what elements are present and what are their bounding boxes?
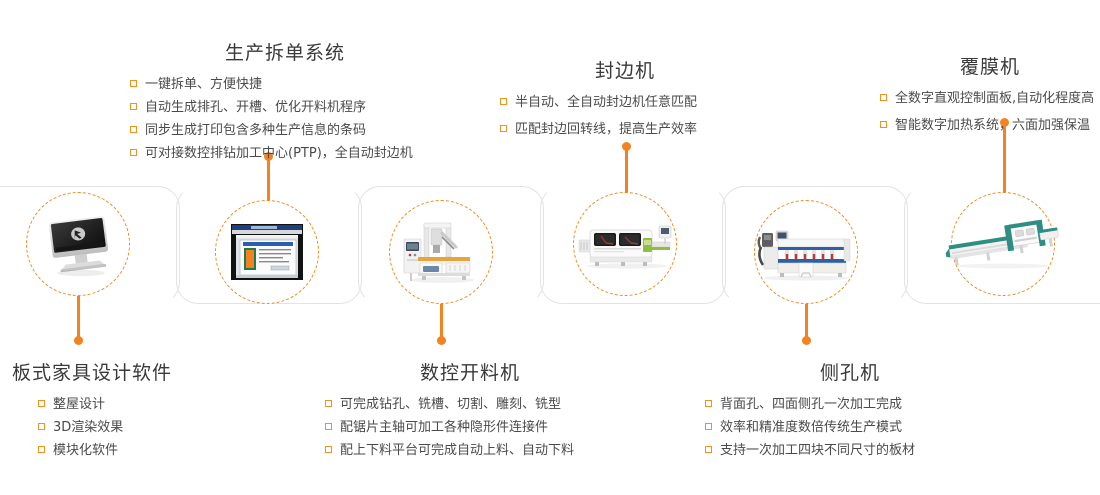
bullet-list-cnc-router: 可完成钻孔、铣槽、切割、雕刻、铣型 配锯片主轴可加工各种隐形件连接件 配上下料平… <box>325 394 615 461</box>
block-cnc-router: 数控开料机 可完成钻孔、铣槽、切割、雕刻、铣型 配锯片主轴可加工各种隐形件连接件… <box>325 358 615 463</box>
list-item: 智能数字加热系统，六面加强保温 <box>880 115 1100 136</box>
list-item: 配锯片主轴可加工各种隐形件连接件 <box>325 417 615 438</box>
bullet-text: 配上下料平台可完成自动上料、自动下料 <box>340 440 574 461</box>
bullet-text: 匹配封边回转线，提高生产效率 <box>515 119 697 140</box>
bullet-square-icon <box>130 149 137 156</box>
stem-dot-cnc-router <box>437 336 446 345</box>
node-edge-banding[interactable] <box>573 192 677 296</box>
bullet-text: 智能数字加热系统，六面加强保温 <box>895 115 1090 136</box>
bullet-text: 可完成钻孔、铣槽、切割、雕刻、铣型 <box>340 394 561 415</box>
bullet-text: 背面孔、四面侧孔一次加工完成 <box>720 394 902 415</box>
bullet-square-icon <box>880 121 887 128</box>
bullet-text: 全数字直观控制面板,自动化程度高 <box>895 88 1094 109</box>
bullet-square-icon <box>500 125 507 132</box>
bullet-text: 整屋设计 <box>53 394 105 415</box>
block-side-hole-drill: 侧孔机 背面孔、四面侧孔一次加工完成 效率和精准度数倍传统生产模式 支持一次加工… <box>705 358 995 463</box>
bullet-text: 支持一次加工四块不同尺寸的板材 <box>720 440 915 461</box>
bullet-square-icon <box>38 400 45 407</box>
list-item: 匹配封边回转线，提高生产效率 <box>500 119 750 140</box>
bullet-square-icon <box>705 423 712 430</box>
cnc-router-machine-icon <box>398 217 484 287</box>
block-order-splitting: 生产拆单系统 一键拆单、方便快捷 自动生成排孔、开槽、优化开料机程序 同步生成打… <box>130 38 440 166</box>
block-title-laminating: 覆膜机 <box>880 52 1100 79</box>
list-item: 效率和精准度数倍传统生产模式 <box>705 417 995 438</box>
stem-dot-side-hole-drill <box>802 336 811 345</box>
bullet-text: 自动生成排孔、开槽、优化开料机程序 <box>145 97 366 118</box>
block-laminating: 覆膜机 全数字直观控制面板,自动化程度高 智能数字加热系统，六面加强保温 <box>880 52 1100 138</box>
list-item: 3D渲染效果 <box>38 417 212 438</box>
node-cnc-router[interactable] <box>389 200 493 304</box>
bullet-list-laminating: 全数字直观控制面板,自动化程度高 智能数字加热系统，六面加强保温 <box>880 88 1100 136</box>
bullet-square-icon <box>705 446 712 453</box>
list-item: 可完成钻孔、铣槽、切割、雕刻、铣型 <box>325 394 615 415</box>
bullet-square-icon <box>130 80 137 87</box>
bullet-text: 3D渲染效果 <box>53 417 123 438</box>
bullet-text: 半自动、全自动封边机任意匹配 <box>515 92 697 113</box>
bullet-text: 效率和精准度数倍传统生产模式 <box>720 417 902 438</box>
stem-design-software <box>77 296 80 340</box>
bullet-list-design-software: 整屋设计 3D渲染效果 模块化软件 <box>12 394 212 461</box>
bullet-text: 一键拆单、方便快捷 <box>145 74 262 95</box>
bullet-list-edge-banding: 半自动、全自动封边机任意匹配 匹配封边回转线，提高生产效率 <box>500 92 750 140</box>
imac-monitor-icon <box>35 209 121 279</box>
bullet-square-icon <box>880 94 887 101</box>
stem-dot-design-software <box>74 336 83 345</box>
list-item: 背面孔、四面侧孔一次加工完成 <box>705 394 995 415</box>
list-item: 一键拆单、方便快捷 <box>130 74 440 95</box>
block-design-software: 板式家具设计软件 整屋设计 3D渲染效果 模块化软件 <box>12 358 212 463</box>
list-item: 半自动、全自动封边机任意匹配 <box>500 92 750 113</box>
list-item: 模块化软件 <box>38 440 212 461</box>
bullet-square-icon <box>500 98 507 105</box>
bullet-square-icon <box>38 423 45 430</box>
node-order-splitting[interactable] <box>215 200 319 304</box>
bullet-square-icon <box>38 446 45 453</box>
block-title-cnc-router: 数控开料机 <box>325 358 615 385</box>
workflow-diagram: 生产拆单系统 一键拆单、方便快捷 自动生成排孔、开槽、优化开料机程序 同步生成打… <box>0 0 1100 495</box>
list-item: 自动生成排孔、开槽、优化开料机程序 <box>130 97 440 118</box>
bullet-square-icon <box>705 400 712 407</box>
bullet-square-icon <box>130 126 137 133</box>
list-item: 同步生成打印包含多种生产信息的条码 <box>130 120 440 141</box>
bullet-text: 同步生成打印包含多种生产信息的条码 <box>145 120 366 141</box>
list-item: 可对接数控排钻加工中心(PTP)，全自动封边机 <box>130 143 440 164</box>
block-title-side-hole-drill: 侧孔机 <box>705 358 995 385</box>
laminating-machine-icon <box>945 214 1061 274</box>
bullet-square-icon <box>325 423 332 430</box>
block-title-design-software: 板式家具设计软件 <box>12 358 212 385</box>
software-screen-icon <box>231 224 303 280</box>
node-side-hole-drill[interactable] <box>754 200 858 304</box>
bullet-square-icon <box>130 103 137 110</box>
node-design-software[interactable] <box>26 192 130 296</box>
node-laminating[interactable] <box>951 192 1055 296</box>
bullet-text: 模块化软件 <box>53 440 118 461</box>
side-hole-machine-icon <box>754 221 858 283</box>
block-title-edge-banding: 封边机 <box>500 56 750 83</box>
bullet-list-order-splitting: 一键拆单、方便快捷 自动生成排孔、开槽、优化开料机程序 同步生成打印包含多种生产… <box>130 74 440 164</box>
block-edge-banding: 封边机 半自动、全自动封边机任意匹配 匹配封边回转线，提高生产效率 <box>500 56 750 142</box>
bullet-square-icon <box>325 446 332 453</box>
list-item: 配上下料平台可完成自动上料、自动下料 <box>325 440 615 461</box>
bullet-text: 配锯片主轴可加工各种隐形件连接件 <box>340 417 548 438</box>
list-item: 全数字直观控制面板,自动化程度高 <box>880 88 1100 109</box>
stem-dot-edge-banding <box>622 142 631 151</box>
edge-banding-machine-icon <box>577 216 677 272</box>
list-item: 整屋设计 <box>38 394 212 415</box>
block-title-order-splitting: 生产拆单系统 <box>130 38 440 65</box>
bullet-square-icon <box>325 400 332 407</box>
bullet-text: 可对接数控排钻加工中心(PTP)，全自动封边机 <box>145 143 413 164</box>
bullet-list-side-hole-drill: 背面孔、四面侧孔一次加工完成 效率和精准度数倍传统生产模式 支持一次加工四块不同… <box>705 394 995 461</box>
list-item: 支持一次加工四块不同尺寸的板材 <box>705 440 995 461</box>
